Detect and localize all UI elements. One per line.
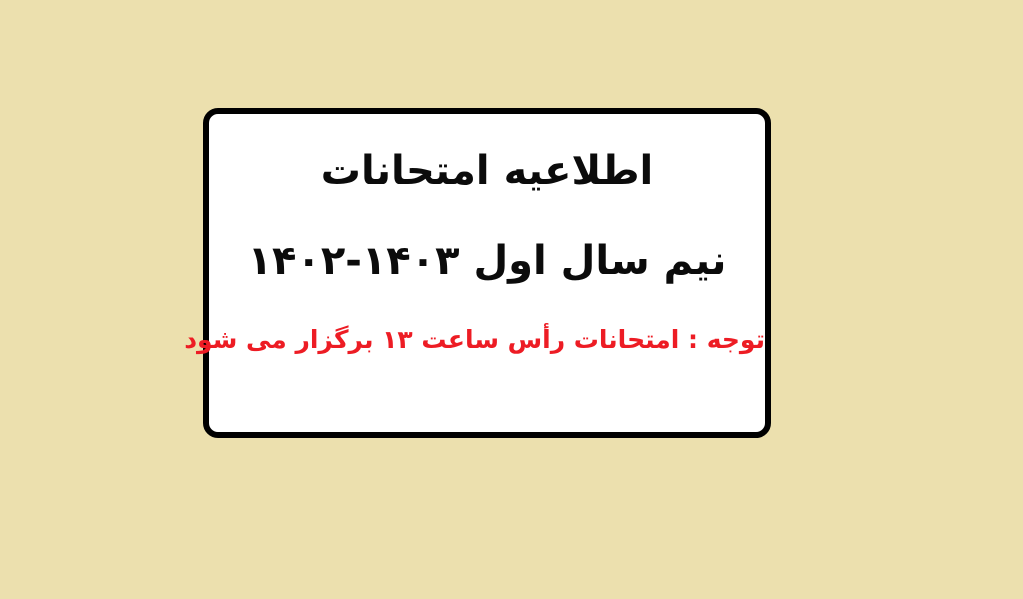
notice-warning-text: توجه : امتحانات رأس ساعت ۱۳ برگزار می شو… <box>209 326 765 355</box>
notice-title: اطلاعیه امتحانات <box>209 148 765 194</box>
page-background: اطلاعیه امتحانات نیم سال اول ۱۴۰۳-۱۴۰۲ ت… <box>0 0 1023 599</box>
notice-term-line: نیم سال اول ۱۴۰۳-۱۴۰۲ <box>209 238 765 284</box>
notice-card: اطلاعیه امتحانات نیم سال اول ۱۴۰۳-۱۴۰۲ ت… <box>203 108 771 438</box>
